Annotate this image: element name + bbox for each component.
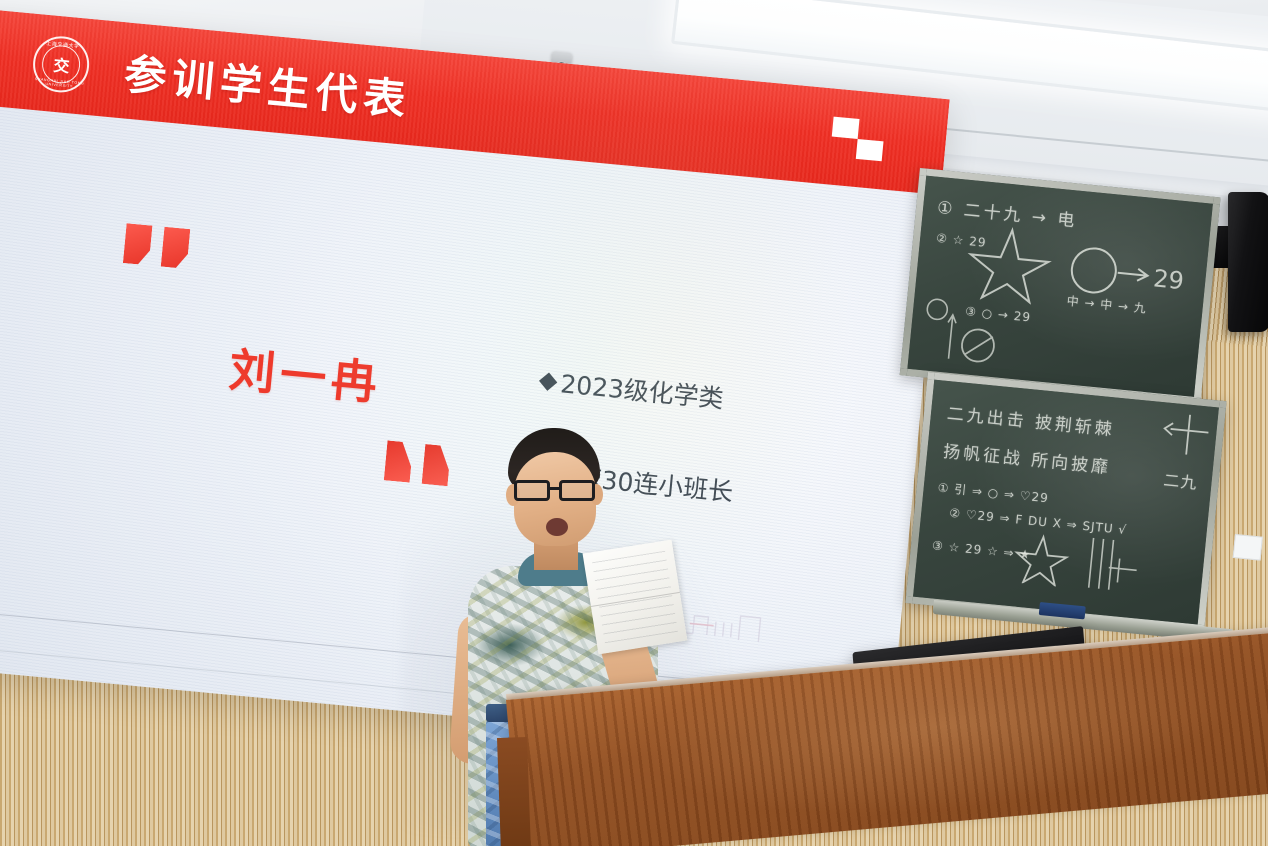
bullet-text: 2023级化学类 [559,364,725,415]
chalk-star-lower-icon [1011,530,1072,587]
chalk-slogan-2: 扬帆征战 所向披靡 [942,437,1112,478]
presenter-mouth [546,518,568,536]
blackboard-lower: 二九出击 披荆斩棘 扬帆征战 所向披靡 二九 ① 引 ⇒ ○ ⇒ ♡29 ② ♡… [905,372,1226,632]
slide-speaker-name: 刘一冉 [227,334,385,414]
university-seal-icon: 上海交通大学 交 SHANGHAI JIAO TONG UNIVERSITY [31,34,92,95]
chalk-star-icon [963,220,1056,306]
blackboard-upper-surface: ① 二十九 → 电 ② ☆ 29 ③ ○ → 29 中 → 中 → 九 29 [907,176,1213,397]
wall-speaker [1228,192,1268,332]
chalk-side-text: 二九 [1163,467,1199,494]
chalk-flag-icon [1082,535,1157,598]
chalk-slogan-1: 二九出击 披荆斩棘 [946,399,1116,440]
diamond-bullet-icon [539,372,557,390]
chalk-diagram-icon: 29 [1064,238,1200,320]
speech-paper [583,540,688,655]
glasses-icon [514,480,598,502]
open-quote-icon [123,223,190,269]
wall-paper-note [1233,534,1263,561]
classroom-photo-scene: 上海交通大学 交 SHANGHAI JIAO TONG UNIVERSITY 参… [0,0,1268,846]
podium-left-face [497,737,531,846]
blackboard-lower-surface: 二九出击 披荆斩棘 扬帆征战 所向披靡 二九 ① 引 ⇒ ○ ⇒ ♡29 ② ♡… [913,380,1219,625]
seal-bottom-text: SHANGHAI JIAO TONG UNIVERSITY [33,77,86,90]
slide-banner-title: 参训学生代表 [122,40,414,128]
banner-checker-decoration [830,117,890,164]
svg-text:29: 29 [1152,264,1185,295]
list-item: 2023级化学类 [540,363,743,418]
chalk-arrow-icon [1160,408,1218,461]
chalk-sketch-icon [918,294,1015,374]
blackboard-upper: ① 二十九 → 电 ② ☆ 29 ③ ○ → 29 中 → 中 → 九 29 [900,168,1221,404]
chalk-note-1: ① 引 ⇒ ○ ⇒ ♡29 [937,479,1050,507]
